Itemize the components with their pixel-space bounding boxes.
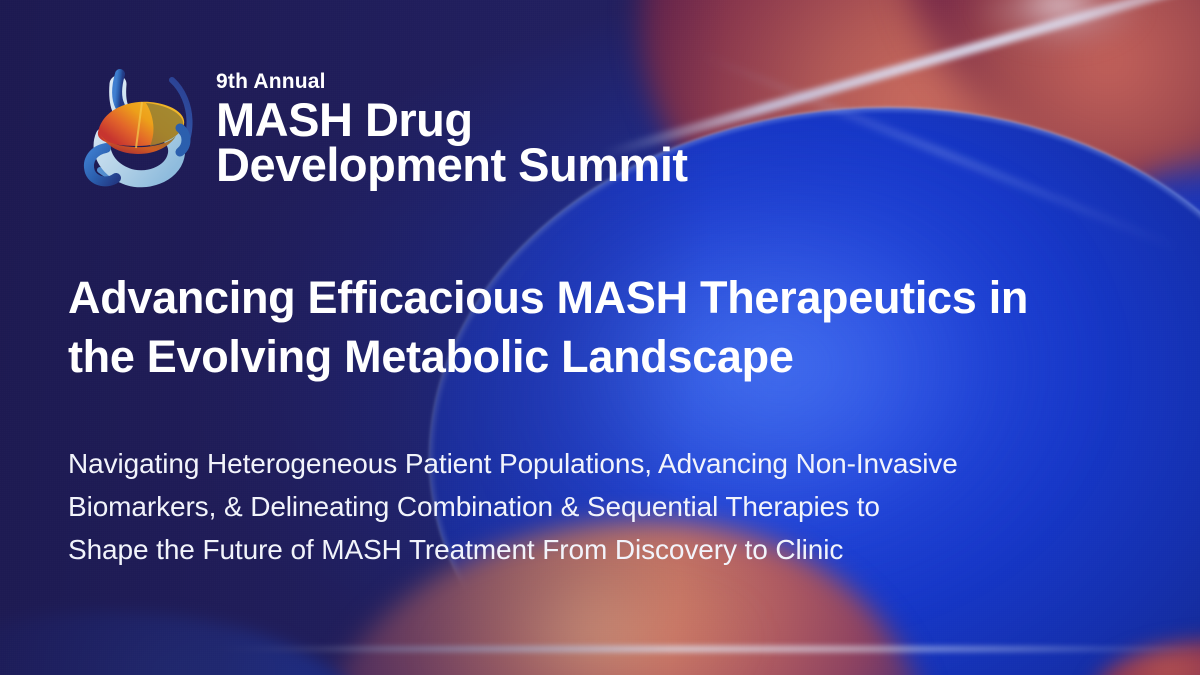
brand-name-line-2: Development Summit [216,142,688,187]
page-subtitle: Navigating Heterogeneous Patient Populat… [68,442,1143,571]
brand-wordmark: 9th Annual MASH Drug Development Summit [216,67,688,187]
brand-logo: 9th Annual MASH Drug Development Summit [76,62,688,192]
subtitle-line-1: Navigating Heterogeneous Patient Populat… [68,448,958,479]
subtitle-line-3: Shape the Future of MASH Treatment From … [68,534,843,565]
brand-name-line-1: MASH Drug [216,97,688,142]
page-title: Advancing Efficacious MASH Therapeutics … [68,268,1158,387]
headline-line-1: Advancing Efficacious MASH Therapeutics … [68,272,1028,323]
headline-line-2: the Evolving Metabolic Landscape [68,331,794,382]
event-banner: 9th Annual MASH Drug Development Summit … [0,0,1200,675]
brand-kicker: 9th Annual [216,71,688,92]
banner-content: 9th Annual MASH Drug Development Summit … [0,0,1200,675]
liver-stomach-logo-icon [76,62,198,192]
subtitle-line-2: Biomarkers, & Delineating Combination & … [68,491,880,522]
